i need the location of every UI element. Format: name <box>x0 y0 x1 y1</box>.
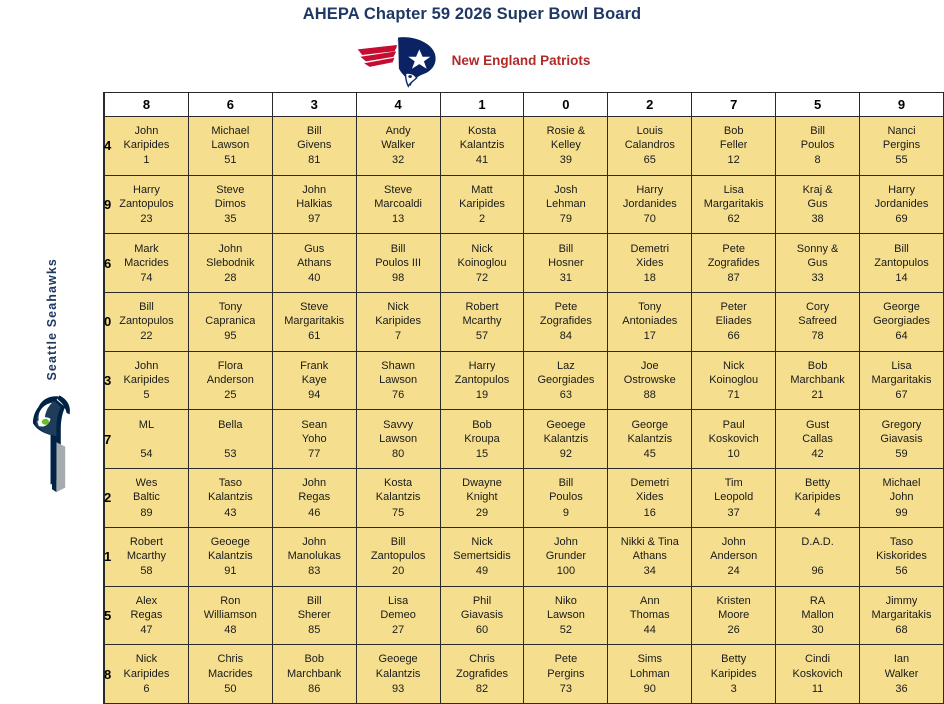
square-owner-line2: Williamson <box>204 608 257 622</box>
square-number: 60 <box>476 623 488 637</box>
square-owner-line2: Lohman <box>630 667 670 681</box>
square-number: 69 <box>895 212 907 226</box>
square-owner-line2: Xides <box>636 256 664 270</box>
square-number: 33 <box>811 271 823 285</box>
square-owner-line1: Cory <box>806 300 829 314</box>
square-owner-line2: Zantopulos <box>455 373 509 387</box>
square-number: 44 <box>644 623 656 637</box>
square-owner-line1: Matt <box>471 183 492 197</box>
square-owner-line1: Steve <box>216 183 244 197</box>
square-cell[interactable]: FrankKaye94 <box>272 351 356 410</box>
square-cell[interactable]: GeorgeGeorgiades64 <box>860 293 944 352</box>
square-owner-line1: Sims <box>638 652 662 666</box>
square-owner-line1: Gregory <box>882 418 922 432</box>
column-header: 7 <box>692 93 776 117</box>
square-owner-line2: Zantopulos <box>119 197 173 211</box>
home-team-name: Seattle Seahawks <box>45 258 59 381</box>
square-owner-line1: Bill <box>559 476 574 490</box>
square-cell[interactable]: KostaKalantzis75 <box>356 469 440 528</box>
square-cell[interactable]: BobFeller12 <box>692 117 776 176</box>
square-cell[interactable]: AndyWalker32 <box>356 117 440 176</box>
square-cell[interactable]: JohnRegas46 <box>272 469 356 528</box>
square-number: 64 <box>895 329 907 343</box>
square-owner-line1: Peter <box>721 300 747 314</box>
square-owner-line1: Steve <box>384 183 412 197</box>
grid-row: 8NickKaripides6ChrisMacrides50BobMarchba… <box>104 645 944 704</box>
grid-row: 1RobertMcarthy58GeoegeKalantzis91JohnMan… <box>104 527 944 586</box>
square-number: 46 <box>308 506 320 520</box>
square-owner-line2: Calandros <box>625 138 675 152</box>
square-cell[interactable]: ShawnLawson76 <box>356 351 440 410</box>
square-owner-line1: Taso <box>890 535 913 549</box>
square-number: 15 <box>476 447 488 461</box>
square-cell[interactable]: BillPoulos9 <box>524 469 608 528</box>
square-owner-line2: Zantopulos <box>119 314 173 328</box>
square-owner-line2: Zantopulos <box>371 549 425 563</box>
square-owner-line2: Feller <box>720 138 748 152</box>
square-cell[interactable]: CorySafreed78 <box>776 293 860 352</box>
square-cell[interactable]: HarryJordanides69 <box>860 175 944 234</box>
square-number: 67 <box>895 388 907 402</box>
square-number: 28 <box>224 271 236 285</box>
square-cell[interactable]: PeterEliades66 <box>692 293 776 352</box>
square-owner-line1: D.A.D. <box>801 535 833 549</box>
square-cell[interactable]: DwayneKnight29 <box>440 469 524 528</box>
square-cell[interactable]: GusAthans40 <box>272 234 356 293</box>
square-owner-line2: Lehman <box>546 197 586 211</box>
square-cell[interactable]: PeteZografides84 <box>524 293 608 352</box>
square-cell[interactable]: DemetriXides18 <box>608 234 692 293</box>
square-owner-line1: Nanci <box>887 124 915 138</box>
square-owner-line1: Michael <box>211 124 249 138</box>
square-owner-line2: Semertsidis <box>453 549 510 563</box>
square-number: 41 <box>476 153 488 167</box>
square-number: 50 <box>224 682 236 696</box>
square-cell[interactable]: GeoegeKalantzis93 <box>356 645 440 704</box>
square-number: 94 <box>308 388 320 402</box>
square-cell[interactable]: MarkMacrides74 <box>105 234 189 293</box>
square-owner-line1: John <box>554 535 578 549</box>
square-owner-line1: Lisa <box>388 594 408 608</box>
square-cell[interactable]: IanWalker36 <box>860 645 944 704</box>
square-owner-line1: Nick <box>471 535 492 549</box>
square-cell[interactable]: HarryJordanides70 <box>608 175 692 234</box>
square-owner-line2: Zografides <box>456 667 508 681</box>
square-cell[interactable]: BobKroupa15 <box>440 410 524 469</box>
square-cell[interactable]: JohnGrunder100 <box>524 527 608 586</box>
square-owner-line2: Zografides <box>540 314 592 328</box>
square-number: 70 <box>644 212 656 226</box>
square-owner-line1: Chris <box>469 652 495 666</box>
square-number: 62 <box>728 212 740 226</box>
square-number: 49 <box>476 564 488 578</box>
square-cell[interactable]: JohnAnderson24 <box>692 527 776 586</box>
square-cell[interactable]: NickSemertsidis49 <box>440 527 524 586</box>
square-owner-line2: Marchbank <box>790 373 844 387</box>
square-cell[interactable]: SeanYoho77 <box>272 410 356 469</box>
square-owner-line2: Kaye <box>302 373 327 387</box>
square-owner-line2: Kalantzis <box>460 138 505 152</box>
square-number: 24 <box>728 564 740 578</box>
square-number: 98 <box>392 271 404 285</box>
square-owner-line1: Demetri <box>631 476 670 490</box>
square-cell[interactable]: WesBaltic89 <box>105 469 189 528</box>
column-header: 8 <box>105 93 189 117</box>
square-number: 58 <box>140 564 152 578</box>
grid-row: 3JohnKaripides5FloraAnderson25FrankKaye9… <box>104 351 944 410</box>
square-cell[interactable]: Nikki & TinaAthans34 <box>608 527 692 586</box>
square-number: 29 <box>476 506 488 520</box>
square-cell[interactable]: D.A.D.96 <box>776 527 860 586</box>
square-number: 73 <box>560 682 572 696</box>
square-cell[interactable]: NikoLawson52 <box>524 586 608 645</box>
square-owner-line2: Grunder <box>546 549 586 563</box>
square-owner-line1: Pete <box>555 652 578 666</box>
square-cell[interactable]: LouisCalandros65 <box>608 117 692 176</box>
grid-row: 6MarkMacrides74JohnSlebodnik28GusAthans4… <box>104 234 944 293</box>
square-cell[interactable]: DemetriXides16 <box>608 469 692 528</box>
square-owner-line2: Lawson <box>547 608 585 622</box>
square-cell[interactable]: ChrisMacrides50 <box>188 645 272 704</box>
square-cell[interactable]: GeoegeKalantzis91 <box>188 527 272 586</box>
square-cell[interactable]: JohnSlebodnik28 <box>188 234 272 293</box>
square-cell[interactable]: JoeOstrowske88 <box>608 351 692 410</box>
square-owner-line1: Phil <box>473 594 491 608</box>
square-cell[interactable]: GustCallas42 <box>776 410 860 469</box>
square-cell[interactable]: JohnKaripides5 <box>105 351 189 410</box>
square-owner-line2: Givens <box>297 138 331 152</box>
square-cell[interactable]: PaulKoskovich10 <box>692 410 776 469</box>
square-owner-line2: Poulos III <box>375 256 421 270</box>
square-owner-line2: Giavasis <box>880 432 922 446</box>
square-owner-line1: Pete <box>555 300 578 314</box>
square-owner-line2: Marchbank <box>287 667 341 681</box>
grid-row: 5AlexRegas47RonWilliamson48BillSherer85L… <box>104 586 944 645</box>
square-owner-line1: Laz <box>557 359 575 373</box>
square-number: 59 <box>895 447 907 461</box>
square-number: 57 <box>476 329 488 343</box>
square-cell[interactable]: BettyKaripides3 <box>692 645 776 704</box>
square-cell[interactable]: BillHosner31 <box>524 234 608 293</box>
square-owner-line2: Walker <box>885 667 919 681</box>
square-owner-line1: John <box>135 359 159 373</box>
square-cell[interactable]: JimmyMargaritakis68 <box>860 586 944 645</box>
square-cell[interactable]: LisaMargaritakis67 <box>860 351 944 410</box>
square-owner-line1: Bob <box>472 418 492 432</box>
square-cell[interactable]: NickKaripides6 <box>105 645 189 704</box>
square-number: 32 <box>392 153 404 167</box>
square-owner-line1: Bella <box>218 418 242 432</box>
square-cell[interactable]: HarryZantopulos19 <box>440 351 524 410</box>
square-cell[interactable]: KristenMoore26 <box>692 586 776 645</box>
square-cell[interactable]: BobMarchbank86 <box>272 645 356 704</box>
square-cell[interactable]: BillSherer85 <box>272 586 356 645</box>
square-owner-line2: Kalantzis <box>208 490 253 504</box>
square-cell[interactable]: TonyCapranica95 <box>188 293 272 352</box>
square-cell[interactable]: RonWilliamson48 <box>188 586 272 645</box>
square-number: 66 <box>728 329 740 343</box>
square-owner-line2: Sherer <box>298 608 331 622</box>
square-owner-line2: Margaritakis <box>704 197 764 211</box>
page-header: AHEPA Chapter 59 2026 Super Bowl Board N… <box>0 0 944 90</box>
square-owner-line1: Kristen <box>717 594 751 608</box>
square-cell[interactable]: BettyKaripides4 <box>776 469 860 528</box>
squares-grid: 8 6 3 4 1 0 2 7 5 9 4JohnKaripides1Micha… <box>103 92 944 704</box>
square-number: 96 <box>811 564 823 578</box>
square-number: 19 <box>476 388 488 402</box>
column-header: 0 <box>524 93 608 117</box>
square-cell[interactable]: LisaDemeo27 <box>356 586 440 645</box>
square-cell[interactable]: TimLeopold37 <box>692 469 776 528</box>
square-number: 39 <box>560 153 572 167</box>
square-cell[interactable]: GregoryGiavasis59 <box>860 410 944 469</box>
square-owner-line2: John <box>890 490 914 504</box>
square-cell[interactable]: NickKoinoglou71 <box>692 351 776 410</box>
square-owner-line1: Ian <box>894 652 909 666</box>
square-owner-line1: Ann <box>640 594 660 608</box>
square-cell[interactable]: Rosie &Kelley39 <box>524 117 608 176</box>
square-owner-line2: Karipides <box>795 490 841 504</box>
square-owner-line1: Taso <box>219 476 242 490</box>
square-owner-line2: Kiskorides <box>876 549 927 563</box>
new-england-patriots-logo <box>354 31 446 89</box>
square-owner-line2: Moore <box>718 608 749 622</box>
square-owner-line1: Wes <box>136 476 158 490</box>
square-number: 51 <box>224 153 236 167</box>
square-number: 35 <box>224 212 236 226</box>
square-owner-line1: Bill <box>307 124 322 138</box>
square-cell[interactable]: Kraj &Gus38 <box>776 175 860 234</box>
grid-row: 4JohnKaripides1MichaelLawson51BillGivens… <box>104 117 944 176</box>
square-number: 93 <box>392 682 404 696</box>
square-owner-line1: Bill <box>559 242 574 256</box>
square-number: 95 <box>224 329 236 343</box>
square-cell[interactable]: TonyAntoniades17 <box>608 293 692 352</box>
square-owner-line2: Lawson <box>211 138 249 152</box>
square-cell[interactable]: JohnManolukas83 <box>272 527 356 586</box>
column-header: 1 <box>440 93 524 117</box>
square-owner-line1: Harry <box>469 359 496 373</box>
square-cell[interactable]: MichaelJohn99 <box>860 469 944 528</box>
square-owner-line2: Eliades <box>716 314 752 328</box>
square-number: 25 <box>224 388 236 402</box>
square-owner-line2: Karipides <box>459 197 505 211</box>
square-owner-line1: Kraj & <box>803 183 833 197</box>
square-number: 76 <box>392 388 404 402</box>
square-cell[interactable]: TasoKiskorides56 <box>860 527 944 586</box>
square-cell[interactable]: SimsLohman90 <box>608 645 692 704</box>
square-owner-line1: John <box>302 476 326 490</box>
column-header: 9 <box>860 93 944 117</box>
square-cell[interactable]: PhilGiavasis60 <box>440 586 524 645</box>
square-cell[interactable]: RobertMcarthy57 <box>440 293 524 352</box>
square-owner-line2: Kroupa <box>464 432 499 446</box>
square-number: 43 <box>224 506 236 520</box>
square-cell[interactable]: TasoKalantzis43 <box>188 469 272 528</box>
square-number: 31 <box>560 271 572 285</box>
square-owner-line1: Tony <box>219 300 242 314</box>
square-number: 48 <box>224 623 236 637</box>
square-cell[interactable]: JohnKaripides1 <box>105 117 189 176</box>
square-owner-line1: Cindi <box>805 652 830 666</box>
away-team-banner: New England Patriots <box>0 31 944 89</box>
square-cell[interactable]: KostaKalantzis41 <box>440 117 524 176</box>
square-cell[interactable]: SteveMargaritakis61 <box>272 293 356 352</box>
square-owner-line2: Georgiades <box>873 314 930 328</box>
square-number: 79 <box>560 212 572 226</box>
square-cell[interactable]: GeoegeKalantzis92 <box>524 410 608 469</box>
square-owner-line2: Gus <box>807 256 827 270</box>
square-owner-line1: Louis <box>637 124 663 138</box>
square-owner-line1: Bill <box>391 535 406 549</box>
square-number: 82 <box>476 682 488 696</box>
square-owner-line2: Margaritakis <box>872 373 932 387</box>
square-owner-line1: Robert <box>465 300 498 314</box>
square-owner-line1: Savvy <box>383 418 413 432</box>
square-cell[interactable]: JohnHalkias97 <box>272 175 356 234</box>
square-cell[interactable]: HarryZantopulos23 <box>105 175 189 234</box>
square-cell[interactable]: SteveMarcoaldi13 <box>356 175 440 234</box>
square-number: 63 <box>560 388 572 402</box>
square-cell[interactable]: CindiKoskovich11 <box>776 645 860 704</box>
square-owner-line1: Demetri <box>631 242 670 256</box>
square-cell[interactable]: PetePergins73 <box>524 645 608 704</box>
square-owner-line1: Bill <box>139 300 154 314</box>
square-number: 40 <box>308 271 320 285</box>
square-cell[interactable]: RobertMcarthy58 <box>105 527 189 586</box>
square-number: 86 <box>308 682 320 696</box>
square-number: 81 <box>308 153 320 167</box>
square-cell[interactable]: GeorgeKalantzis45 <box>608 410 692 469</box>
square-owner-line1: Niko <box>555 594 577 608</box>
square-cell[interactable]: BobMarchbank21 <box>776 351 860 410</box>
square-owner-line1: Dwayne <box>462 476 502 490</box>
square-cell[interactable]: FloraAnderson25 <box>188 351 272 410</box>
square-cell[interactable]: ML54 <box>105 410 189 469</box>
square-owner-line1: RA <box>810 594 825 608</box>
square-cell[interactable]: RAMallon30 <box>776 586 860 645</box>
square-owner-line1: Michael <box>883 476 921 490</box>
square-owner-line2: Karipides <box>124 667 170 681</box>
square-cell[interactable]: BillZantopulos22 <box>105 293 189 352</box>
square-owner-line1: Josh <box>554 183 577 197</box>
square-owner-line1: Bill <box>391 242 406 256</box>
square-cell[interactable]: NickKaripides7 <box>356 293 440 352</box>
square-cell[interactable]: SavvyLawson80 <box>356 410 440 469</box>
square-owner-line1: Nick <box>136 652 157 666</box>
square-number: 80 <box>392 447 404 461</box>
square-cell[interactable]: JoshLehman79 <box>524 175 608 234</box>
square-number: 13 <box>392 212 404 226</box>
square-owner-line1: Bill <box>810 124 825 138</box>
square-cell[interactable]: AnnThomas44 <box>608 586 692 645</box>
square-owner-line2: Kalantzis <box>208 549 253 563</box>
square-number: 20 <box>392 564 404 578</box>
square-owner-line2: Jordanides <box>875 197 929 211</box>
square-number: 72 <box>476 271 488 285</box>
square-cell[interactable]: BillGivens81 <box>272 117 356 176</box>
square-owner-line1: Kosta <box>384 476 412 490</box>
square-cell[interactable]: SteveDimos35 <box>188 175 272 234</box>
square-owner-line2: Regas <box>298 490 330 504</box>
square-cell[interactable]: LisaMargaritakis62 <box>692 175 776 234</box>
square-number: 37 <box>728 506 740 520</box>
square-number: 74 <box>140 271 152 285</box>
square-cell[interactable]: ChrisZografides82 <box>440 645 524 704</box>
square-owner-line1: Shawn <box>381 359 415 373</box>
square-owner-line2: Demeo <box>380 608 415 622</box>
seattle-seahawks-logo <box>30 391 74 495</box>
square-number: 18 <box>644 271 656 285</box>
square-owner-line1: Geoege <box>379 652 418 666</box>
square-owner-line1: Ron <box>220 594 240 608</box>
square-cell[interactable]: BillZantopulos14 <box>860 234 944 293</box>
square-owner-line2: Xides <box>636 490 664 504</box>
square-number: 26 <box>728 623 740 637</box>
grid-row: 0BillZantopulos22TonyCapranica95SteveMar… <box>104 293 944 352</box>
home-team-banner: Seattle Seahawks <box>18 258 86 495</box>
away-team-name: New England Patriots <box>452 53 591 68</box>
square-number: 88 <box>644 388 656 402</box>
square-owner-line2: Ostrowske <box>624 373 676 387</box>
square-owner-line2: Lawson <box>379 373 417 387</box>
column-header: 5 <box>776 93 860 117</box>
square-owner-line2: Mcarthy <box>462 314 501 328</box>
square-owner-line2: Kalantzis <box>627 432 672 446</box>
square-owner-line2: Capranica <box>205 314 255 328</box>
square-owner-line1: Betty <box>805 476 830 490</box>
square-owner-line2: Athans <box>297 256 331 270</box>
square-owner-line2: Macrides <box>208 667 253 681</box>
square-number: 75 <box>392 506 404 520</box>
square-owner-line2: Yoho <box>302 432 327 446</box>
square-cell[interactable]: BillPoulos III98 <box>356 234 440 293</box>
square-number: 65 <box>644 153 656 167</box>
square-owner-line2: Anderson <box>710 549 757 563</box>
square-cell[interactable]: LazGeorgiades63 <box>524 351 608 410</box>
square-number: 83 <box>308 564 320 578</box>
square-cell[interactable]: MattKaripides2 <box>440 175 524 234</box>
square-cell[interactable]: MichaelLawson51 <box>188 117 272 176</box>
square-cell[interactable]: Sonny &Gus33 <box>776 234 860 293</box>
square-owner-line2: Zantopulos <box>874 256 928 270</box>
square-owner-line2: Margaritakis <box>872 608 932 622</box>
square-owner-line1: Gust <box>806 418 829 432</box>
square-owner-line1: John <box>135 124 159 138</box>
square-owner-line2: Kalantzis <box>376 667 421 681</box>
square-owner-line2: Leopold <box>714 490 753 504</box>
square-owner-line1: Nick <box>387 300 408 314</box>
square-number: 38 <box>811 212 823 226</box>
square-number: 4 <box>815 506 821 520</box>
square-cell[interactable]: NanciPergins55 <box>860 117 944 176</box>
square-owner-line2: Walker <box>381 138 415 152</box>
square-number: 55 <box>895 153 907 167</box>
square-owner-line1: Nick <box>723 359 744 373</box>
square-number: 56 <box>895 564 907 578</box>
square-cell[interactable]: PeteZografides87 <box>692 234 776 293</box>
square-cell[interactable]: NickKoinoglou72 <box>440 234 524 293</box>
square-cell[interactable]: BillPoulos8 <box>776 117 860 176</box>
square-cell[interactable]: BillZantopulos20 <box>356 527 440 586</box>
square-number: 90 <box>644 682 656 696</box>
square-owner-line1: Tony <box>638 300 661 314</box>
square-owner-line1: Gus <box>304 242 324 256</box>
square-cell[interactable]: Bella53 <box>188 410 272 469</box>
square-cell[interactable]: AlexRegas47 <box>105 586 189 645</box>
square-number: 91 <box>224 564 236 578</box>
square-number: 77 <box>308 447 320 461</box>
